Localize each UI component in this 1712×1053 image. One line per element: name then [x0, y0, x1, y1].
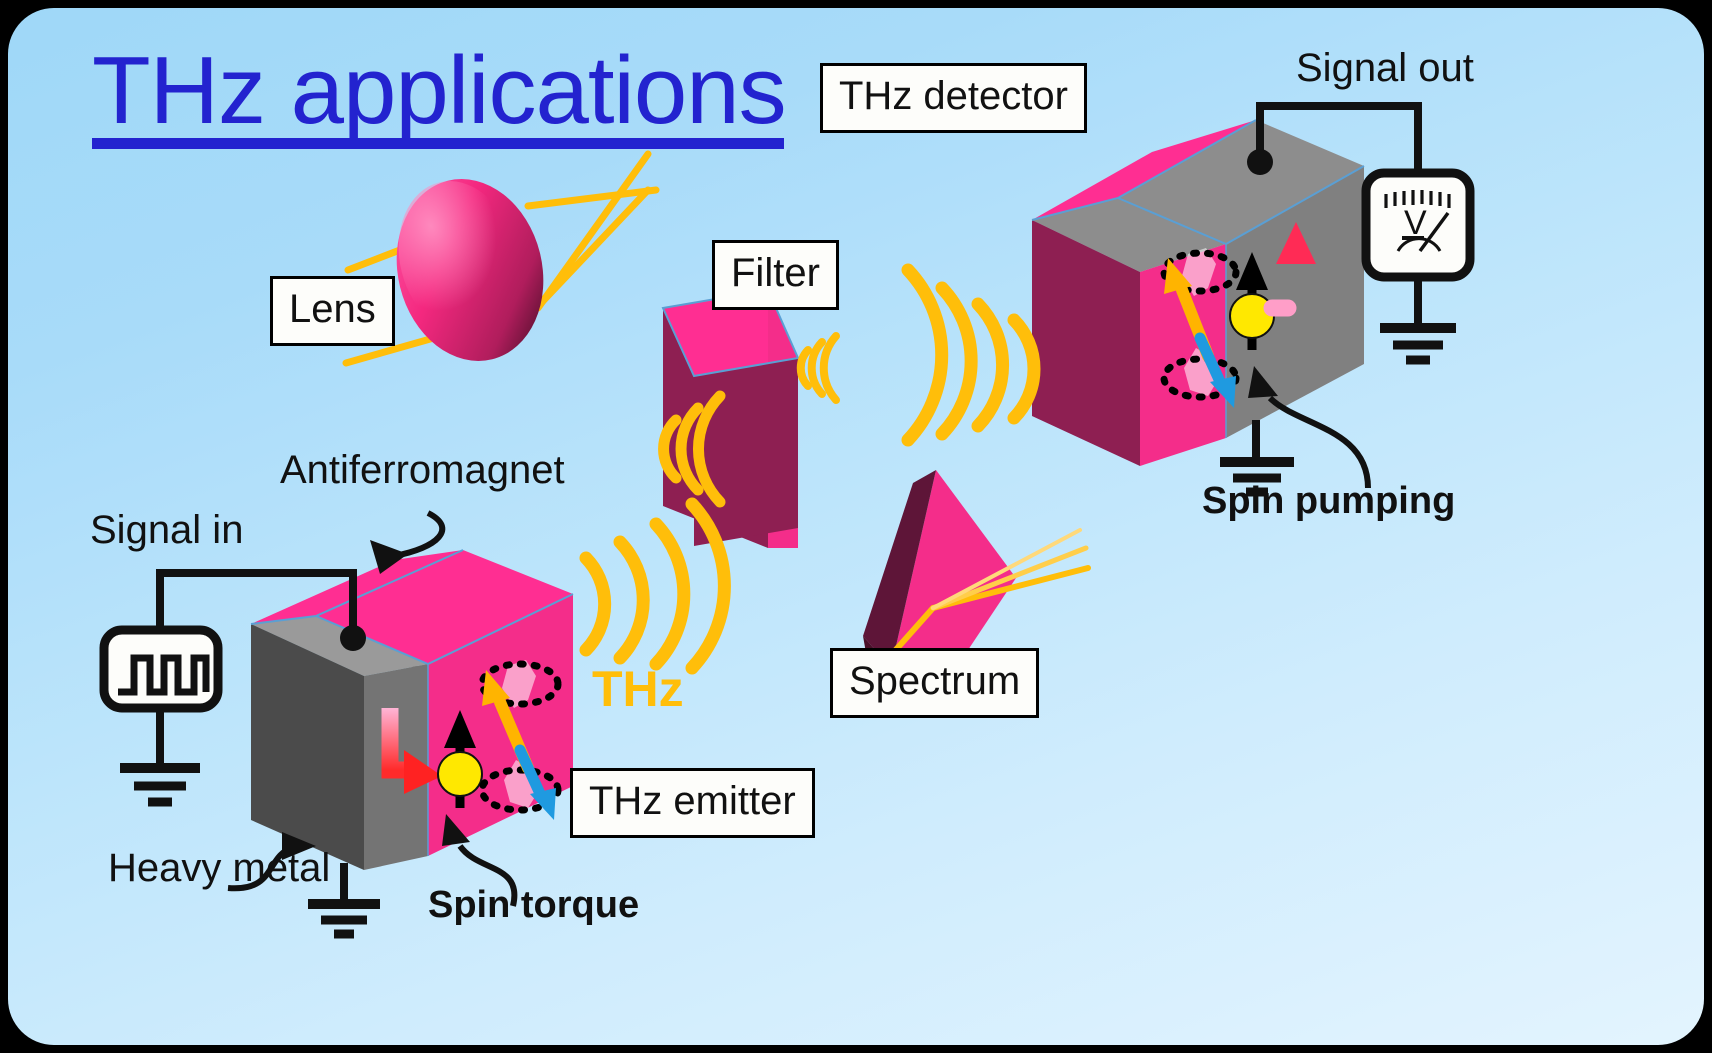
spin-pumping-leader	[1270, 398, 1368, 488]
detector-spin-sphere	[1230, 252, 1274, 350]
emitter-contact-dot	[340, 625, 366, 651]
label-spin-torque: Spin torque	[428, 884, 639, 927]
detector-spin-current-arrow	[1272, 222, 1316, 316]
lens-body	[378, 163, 562, 376]
page-title: THz applications	[92, 36, 786, 146]
label-lens[interactable]: Lens	[270, 276, 395, 346]
thz-detector-block	[1032, 120, 1364, 466]
signal-out-wire	[1260, 106, 1418, 173]
label-heavy-metal: Heavy metal	[108, 846, 330, 891]
antiferromagnet-leader	[394, 513, 442, 556]
label-thz-wave: THz	[592, 660, 684, 718]
title-underline	[92, 138, 784, 149]
emitter-thz-waves	[586, 504, 724, 668]
detector-contact-dot	[1247, 149, 1273, 175]
voltmeter-ground-icon	[1380, 328, 1456, 360]
spin-pumping-arrowhead	[1248, 366, 1278, 398]
spin-torque-arrowhead	[442, 814, 470, 846]
label-spin-pumping: Spin pumping	[1202, 480, 1455, 523]
emitter-spin-current-arrow	[390, 708, 442, 794]
label-signal-in: Signal in	[90, 508, 243, 553]
thz-emitter-block	[251, 550, 573, 870]
filter-wave-incoming	[664, 396, 720, 502]
label-thz-detector[interactable]: THz detector	[820, 63, 1087, 133]
generator-ground-icon	[120, 768, 200, 802]
signal-generator-icon[interactable]	[104, 630, 218, 708]
filter-wave-outgoing	[801, 336, 836, 400]
slide-background: V THz applications THz detector Lens Fil…	[8, 8, 1704, 1045]
emitter-ground-icon	[308, 904, 380, 934]
label-filter[interactable]: Filter	[712, 240, 839, 310]
emitter-spin-sphere	[438, 710, 482, 808]
signal-in-wire	[160, 573, 353, 636]
detector-afm-spins	[1164, 248, 1236, 408]
label-signal-out: Signal out	[1296, 46, 1474, 91]
label-thz-emitter[interactable]: THz emitter	[570, 768, 815, 838]
antiferromagnet-arrowhead	[370, 540, 408, 574]
voltmeter-v-symbol: V	[1404, 204, 1427, 243]
slide-canvas: V THz applications THz detector Lens Fil…	[0, 0, 1712, 1053]
emitter-afm-spins	[482, 660, 558, 820]
filter-slab	[663, 290, 798, 548]
label-spectrum[interactable]: Spectrum	[830, 648, 1039, 718]
detector-thz-waves	[908, 270, 1034, 440]
label-antiferromagnet: Antiferromagnet	[280, 448, 565, 493]
